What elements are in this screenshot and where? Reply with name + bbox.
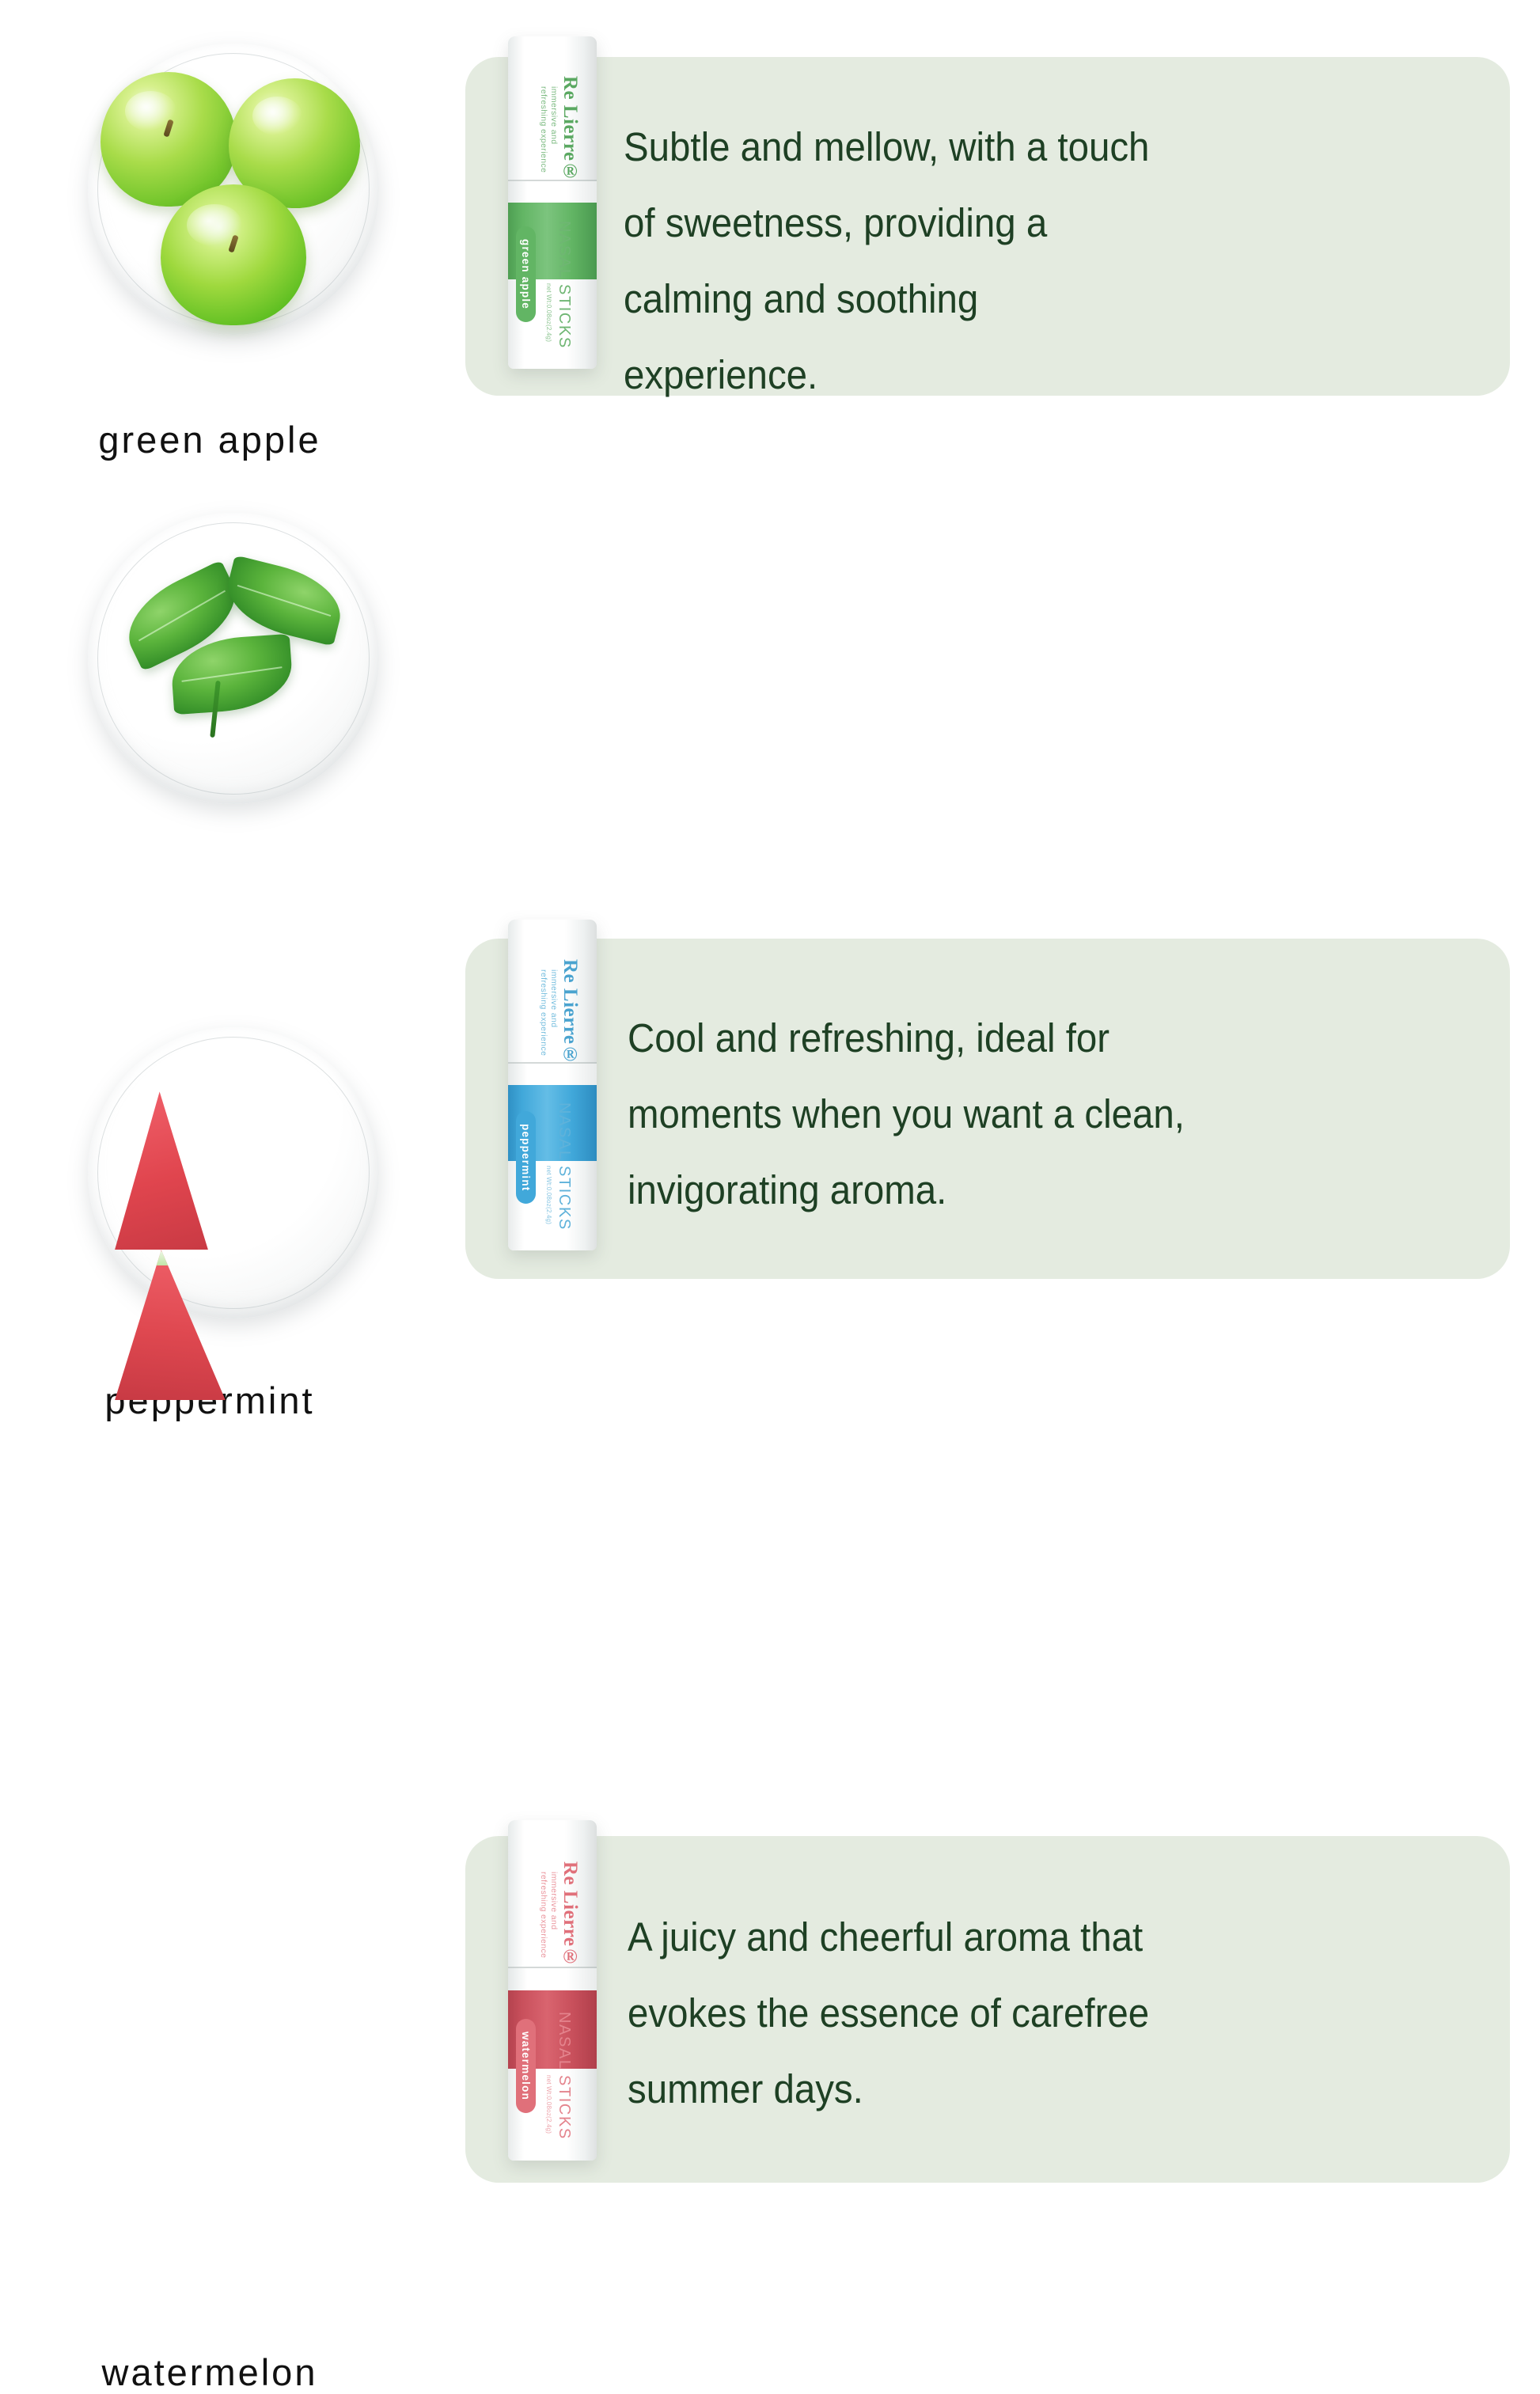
watermelon-seed (261, 1227, 271, 1239)
watermelon-seed (223, 1192, 233, 1204)
apple-icon (161, 184, 306, 325)
brand-name: Re Lierre® (559, 1861, 581, 1968)
mint-leaves-icon (115, 562, 352, 744)
fruit-caption-watermelon: watermelon (0, 2350, 419, 2394)
net-weight-label: net Wt:0.08oz(2.4g) (545, 2075, 552, 2134)
plate-watermelon (88, 1027, 379, 1318)
flavor-badge-watermelon: watermelon (516, 2019, 536, 2113)
flavor-card-watermelon: Re Lierre® immersive and refreshing expe… (465, 1836, 1510, 2183)
flavor-badge-green-apple: green apple (516, 226, 536, 322)
plate-peppermint (88, 513, 379, 804)
apple-gloss (252, 97, 302, 135)
brand-tagline: immersive and refreshing experience (538, 86, 559, 173)
infographic-page: green apple Re Lierre® immersive and ref… (0, 0, 1540, 1504)
plate-green-apple (88, 44, 379, 335)
leaf-vein (138, 590, 226, 641)
flavor-row-green-apple: green apple Re Lierre® immersive and ref… (0, 0, 1540, 491)
brand-name: Re Lierre® (559, 76, 581, 183)
flavor-row-watermelon: watermelon Re Lierre® immersive and refr… (0, 997, 1540, 1504)
stick-neck (508, 181, 597, 204)
product-label: NASAL STICKS (555, 2012, 573, 2140)
product-stick-watermelon: Re Lierre® immersive and refreshing expe… (508, 1820, 597, 2161)
brand-tagline: immersive and refreshing experience (538, 1872, 559, 1958)
watermelon-seed (247, 1220, 256, 1231)
watermelon-slice (115, 1091, 208, 1250)
product-stick-green-apple: Re Lierre® immersive and refreshing expe… (508, 36, 597, 369)
flavor-row-peppermint: peppermint Re Lierre® immersive and refr… (0, 491, 1540, 997)
watermelon-seed (237, 1206, 247, 1218)
fruit-caption-green-apple: green apple (0, 418, 419, 461)
net-weight-label: net Wt:0.08oz(2.4g) (545, 283, 552, 342)
mint-leaf (219, 555, 348, 646)
leaf-vein (182, 666, 283, 682)
flavor-description-watermelon: A juicy and cheerful aroma that evokes t… (628, 1899, 1187, 2127)
leaf-vein (237, 584, 332, 616)
fruit-column-watermelon (24, 997, 443, 1504)
flavor-description-green-apple: Subtle and mellow, with a touch of sweet… (624, 109, 1168, 413)
fruit-column-green-apple (24, 0, 443, 491)
stick-neck (508, 1968, 597, 1992)
watermelon-seed (218, 1174, 228, 1186)
product-label: NASAL STICKS (555, 221, 573, 349)
flavor-card-green-apple: Re Lierre® immersive and refreshing expe… (465, 57, 1510, 396)
watermelon-slices-icon (115, 1091, 352, 1265)
fruit-column-peppermint (24, 491, 443, 997)
